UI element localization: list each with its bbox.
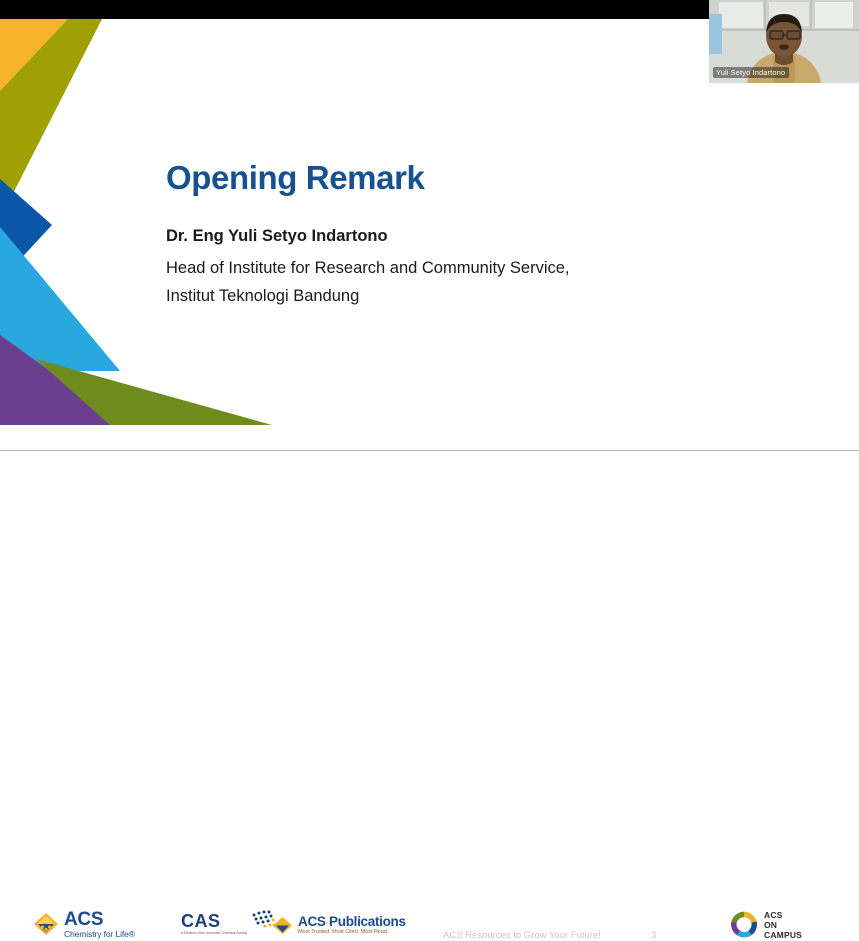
acs-on-campus-line-2: ON (764, 920, 802, 930)
participant-name-label: Yuli Setyo Indartono (713, 67, 789, 78)
acs-publications-logo-name: ACS Publications (298, 915, 406, 929)
acs-diamond-icon (33, 912, 59, 936)
participant-video-tile[interactable]: Yuli Setyo Indartono (709, 0, 859, 83)
acs-on-campus-ring-icon (729, 911, 759, 939)
cas-logo: CAS A Division of the American Chemical … (181, 909, 276, 939)
acs-publications-logo: ACS Publications Most Trusted. Most Cite… (272, 915, 406, 935)
presenter-affiliation: Head of Institute for Research and Commu… (166, 255, 570, 310)
presenter-name: Dr. Eng Yuli Setyo Indartono (166, 227, 388, 246)
acs-on-campus-line-1: ACS (764, 910, 802, 920)
slide-canvas: Opening Remark Dr. Eng Yuli Setyo Indart… (0, 19, 859, 451)
dark-blue-triangle-shape (0, 179, 52, 281)
slide-title: Opening Remark (166, 160, 424, 196)
acs-logo: ACS Chemistry for Life® (33, 910, 135, 939)
presentation-screen: Opening Remark Dr. Eng Yuli Setyo Indart… (0, 0, 859, 492)
affiliation-line-1: Head of Institute for Research and Commu… (166, 255, 570, 283)
olive-triangle-shape (0, 19, 102, 219)
acs-on-campus-logo: ACS ON CAMPUS (729, 910, 802, 940)
cas-logo-name: CAS (181, 912, 247, 930)
purple-shape (0, 335, 125, 425)
slide-page-number: 3 (651, 930, 656, 941)
footer-tagline: ACS Resources to Grow Your Future! (443, 930, 601, 941)
cyan-triangle-shape (0, 227, 120, 371)
acs-logo-name: ACS (64, 910, 135, 929)
acs-on-campus-line-3: CAMPUS (764, 930, 802, 940)
acs-logo-tagline: Chemistry for Life® (64, 930, 135, 939)
slide-footer: ACS Chemistry for Life® CAS A Division o… (0, 451, 859, 492)
cas-logo-tagline: A Division of the American Chemical Soci… (181, 932, 247, 936)
amber-triangle-shape (0, 19, 68, 91)
acs-publications-logo-tagline: Most Trusted. Most Cited. Most Read. (298, 930, 406, 936)
letterbox-bar (0, 0, 709, 19)
affiliation-line-2: Institut Teknologi Bandung (166, 283, 570, 311)
green-triangle-shape (36, 359, 272, 425)
acs-publications-diamond-icon (272, 916, 293, 935)
